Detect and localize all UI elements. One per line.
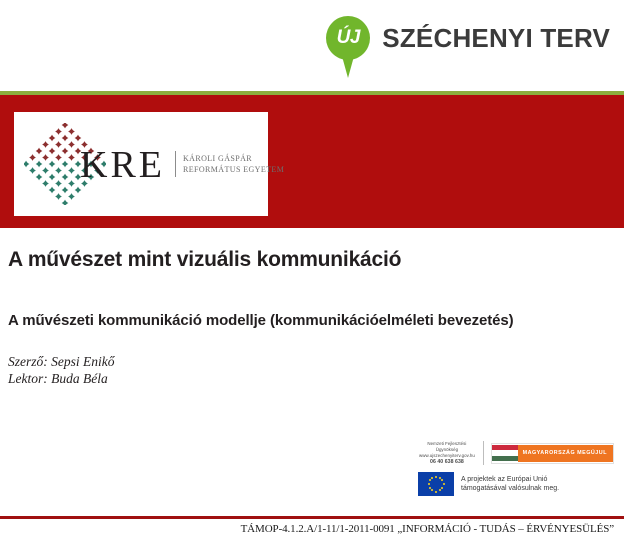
credits-block: Szerző: Sepsi Enikő Lektor: Buda Béla [8,353,114,387]
eu-star [443,483,445,485]
author-line: Szerző: Sepsi Enikő [8,353,114,370]
tamop-project-line: TÁMOP-4.1.2.A/1-11/1-2011-0091 „INFORMÁC… [0,523,614,535]
funding-row-bottom: A projektek az Európai Unió támogatásáva… [418,472,614,496]
eu-star [429,487,431,489]
bottom-red-rule [0,516,624,519]
eu-star [429,479,431,481]
eu-funding-text: A projektek az Európai Unió támogatásáva… [461,475,559,494]
magyarorszag-megujul-badge: MAGYARORSZÁG MEGÚJUL [491,443,614,464]
funding-logo-strip: Nemzeti Fejlesztési Ügynökség www.ujszec… [418,440,614,496]
slide-header: ÚJ SZÉCHENYI TERV [0,0,624,88]
eu-star [435,491,437,493]
eu-funding-line1: A projektek az Európai Unió [461,475,559,485]
reviewer-line: Lektor: Buda Béla [8,370,114,387]
eu-star [435,476,437,478]
page-subtitle: A művészeti kommunikáció modellje (kommu… [8,312,514,329]
kre-subtitle-line1: KÁROLI GÁSPÁR [183,153,284,164]
hungarian-flag-icon [492,445,518,462]
kre-logo-card: KRE KÁROLI GÁSPÁR REFORMÁTUS EGYETEM [14,112,268,216]
eu-star [441,487,443,489]
kre-separator [175,151,176,177]
map-pin-icon: ÚJ [326,16,374,78]
eu-star [431,477,433,479]
funding-row-top: Nemzeti Fejlesztési Ügynökség www.ujszec… [418,440,614,466]
map-pin-label: ÚJ [326,16,370,60]
eu-star [431,489,433,491]
nfu-phone: 06 40 638 638 [418,459,476,465]
eu-star [441,479,443,481]
flag-stripe-green [492,456,518,462]
eu-star [439,489,441,491]
kre-subtitle: KÁROLI GÁSPÁR REFORMÁTUS EGYETEM [183,153,284,175]
kre-logo: KRE KÁROLI GÁSPÁR REFORMÁTUS EGYETEM [14,123,284,205]
hu-badge-label: MAGYARORSZÁG MEGÚJUL [518,445,613,462]
eu-star [428,483,430,485]
szechenyi-terv-wordmark: SZÉCHENYI TERV [382,23,610,54]
european-union-flag-icon [418,472,454,496]
uj-szechenyi-terv-logo: ÚJ SZÉCHENYI TERV [326,16,610,76]
funding-divider [483,441,484,465]
kre-subtitle-line2: REFORMÁTUS EGYETEM [183,164,284,175]
nfu-logo-text: Nemzeti Fejlesztési Ügynökség www.ujszec… [418,441,476,466]
nfu-name: Nemzeti Fejlesztési Ügynökség [418,441,476,453]
kre-letters: KRE [80,143,165,187]
eu-star [439,477,441,479]
title-slide: ÚJ SZÉCHENYI TERV KRE KÁROLI GÁSPÁR REFO… [0,0,624,541]
eu-funding-line2: támogatásával valósulnak meg. [461,484,559,494]
page-title: A művészet mint vizuális kommunikáció [8,248,401,272]
